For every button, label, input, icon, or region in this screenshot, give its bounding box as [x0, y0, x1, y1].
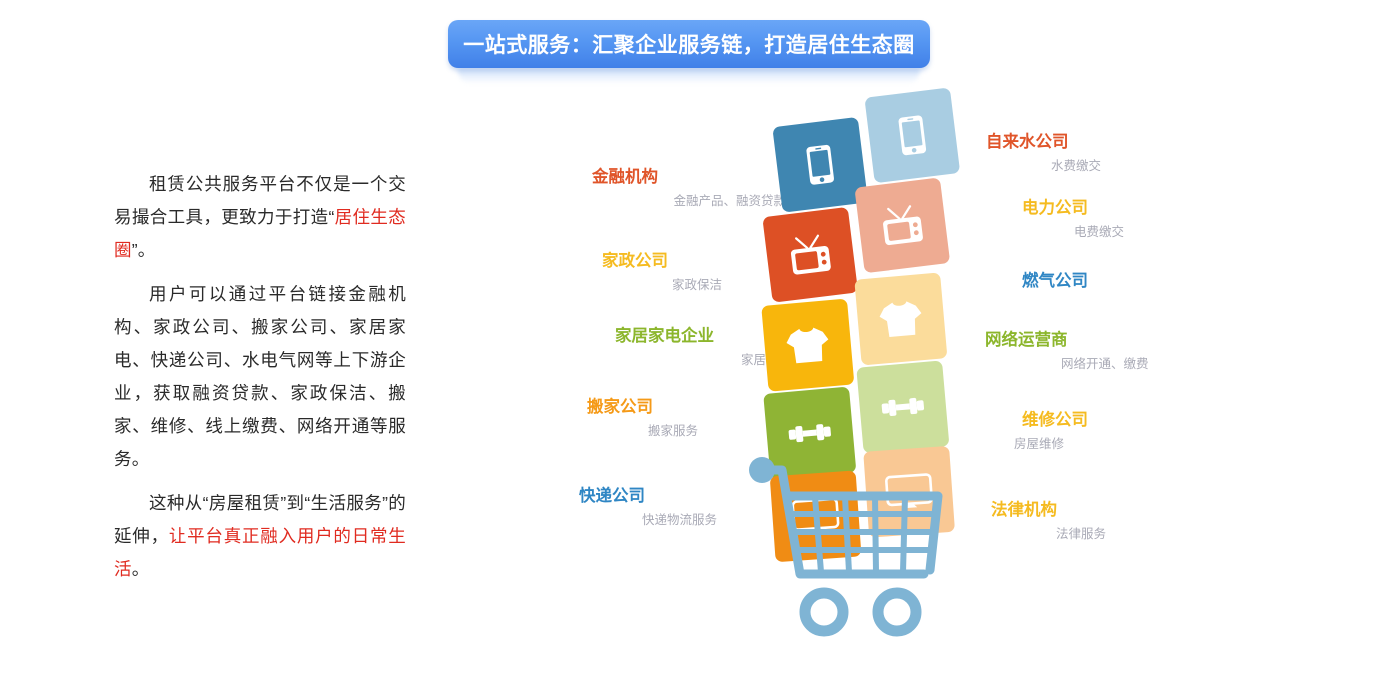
banner-title: 一站式服务：汇聚企业服务链，打造居住生态圈: [463, 29, 915, 59]
shopping-cart: [742, 452, 972, 638]
service-title: 快递公司: [400, 487, 645, 505]
service-label-housekeeping: 家政公司 家政保洁: [418, 252, 668, 293]
service-sub: 快递物流服务: [400, 514, 717, 528]
service-label-network: 网络运营商 网络开通、缴费: [985, 331, 1235, 372]
paragraph-3-part-b: 。: [132, 559, 150, 579]
service-title: 法律机构: [991, 501, 1241, 519]
smartphone-icon: [805, 143, 836, 186]
service-title: 金融机构: [398, 168, 658, 186]
service-label-legal: 法律机构 法律服务: [991, 501, 1241, 542]
service-title: 家居家电企业: [458, 327, 714, 345]
cart-handle-knob: [749, 457, 775, 483]
slide-canvas: 一站式服务：汇聚企业服务链，打造居住生态圈 租赁公共服务平台不仅是一个交易撮合工…: [0, 0, 1400, 680]
service-sub: 房屋维修: [1014, 438, 1272, 452]
television-icon: [878, 203, 927, 248]
service-title: 自来水公司: [986, 133, 1236, 151]
service-label-gas: 燃气公司: [1022, 272, 1272, 290]
banner-glow: [458, 68, 920, 84]
service-title: 维修公司: [1022, 411, 1272, 429]
service-title: 电力公司: [1022, 199, 1272, 217]
tshirt-icon: [876, 298, 925, 340]
service-label-moving: 搬家公司 搬家服务: [408, 398, 653, 439]
service-label-express: 快递公司 快递物流服务: [400, 487, 645, 528]
title-banner: 一站式服务：汇聚企业服务链，打造居住生态圈: [448, 20, 930, 68]
service-title: 搬家公司: [408, 398, 653, 416]
service-sub: 水费缴交: [1051, 160, 1236, 174]
tile-smartphone-light: [864, 87, 960, 183]
service-label-power: 电力公司 电费缴交: [1022, 199, 1272, 240]
dumbbell-icon: [785, 417, 835, 449]
description-text: 租赁公共服务平台不仅是一个交易撮合工具，更致力于打造“居住生态圈”。 用户可以通…: [114, 168, 406, 586]
smartphone-icon: [897, 114, 928, 157]
service-sub: 电费缴交: [1074, 226, 1272, 240]
tshirt-icon: [783, 324, 832, 366]
television-icon: [786, 232, 835, 277]
service-sub: 家政保洁: [418, 279, 722, 293]
service-sub: 搬家服务: [408, 425, 698, 439]
service-label-repair: 维修公司 房屋维修: [1022, 411, 1272, 452]
service-label-financial: 金融机构 金融产品、融资贷款: [398, 168, 658, 209]
tile-tshirt-light: [854, 272, 947, 365]
service-label-appliance: 家居家电企业 家居家电出售: [458, 327, 714, 368]
tile-television-light: [854, 177, 950, 273]
paragraph-1-part-b: ”。: [132, 240, 156, 260]
service-title: 燃气公司: [1022, 272, 1272, 290]
service-sub: 金融产品、融资贷款: [398, 195, 786, 209]
banner-body: 一站式服务：汇聚企业服务链，打造居住生态圈: [448, 20, 930, 68]
cart-wheel-right: [878, 593, 916, 631]
paragraph-2: 用户可以通过平台链接金融机构、家政公司、搬家公司、家居家电、快递公司、水电气网等…: [114, 278, 406, 476]
service-title: 网络运营商: [985, 331, 1235, 349]
paragraph-1: 租赁公共服务平台不仅是一个交易撮合工具，更致力于打造“居住生态圈”。: [114, 168, 406, 267]
shopping-cart-icon: [742, 452, 972, 638]
tile-dumbbell-light: [856, 360, 949, 453]
service-title: 家政公司: [418, 252, 668, 270]
cart-wheel-left: [805, 593, 843, 631]
service-sub: 法律服务: [1056, 528, 1241, 542]
dumbbell-icon: [878, 391, 928, 423]
paragraph-3: 这种从“房屋租赁”到“生活服务”的延伸，让平台真正融入用户的日常生活。: [114, 487, 406, 586]
service-label-water: 自来水公司 水费缴交: [986, 133, 1236, 174]
service-sub: 网络开通、缴费: [1061, 358, 1235, 372]
